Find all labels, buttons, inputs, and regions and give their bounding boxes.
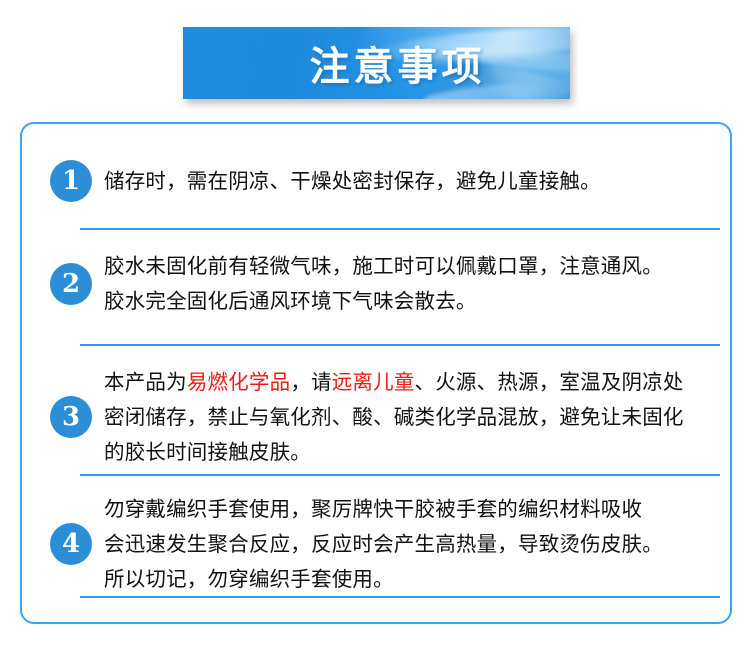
item-text: 本产品为易燃化学品，请远离儿童、火源、热源，室温及阴凉处 密闭储存，禁止与氧化剂…: [104, 365, 730, 470]
page-title: 注意事项: [183, 27, 570, 99]
highlight-text-segment: 远离儿童: [332, 370, 415, 394]
text-segment: 勿穿戴编织手套使用，聚厉牌快干胶被手套的编织材料吸收: [104, 497, 642, 521]
item-line: 所以切记，勿穿编织手套使用。: [104, 562, 716, 597]
text-segment: 密闭储存，禁止与氧化剂、酸、碱类化学品混放，避免让未固化: [104, 405, 684, 429]
banner-background: 注意事项: [183, 27, 570, 99]
item-number-badge: 1: [50, 160, 92, 202]
item-number-badge: 4: [50, 523, 92, 565]
text-segment: 储存时，需在阴凉、干燥处密封保存，避免儿童接触。: [104, 169, 601, 193]
list-item: 3 本产品为易燃化学品，请远离儿童、火源、热源，室温及阴凉处 密闭储存，禁止与氧…: [22, 352, 730, 482]
item-number-badge: 2: [50, 263, 92, 305]
list-divider: [80, 596, 720, 598]
list-item: 2 胶水未固化前有轻微气味，施工时可以佩戴口罩，注意通风。 胶水完全固化后通风环…: [22, 236, 730, 332]
item-line: 勿穿戴编织手套使用，聚厉牌快干胶被手套的编织材料吸收: [104, 492, 716, 527]
text-segment: 本产品为: [104, 370, 187, 394]
text-segment: ，请: [290, 370, 331, 394]
item-text: 勿穿戴编织手套使用，聚厉牌快干胶被手套的编织材料吸收 会迅速发生聚合反应，反应时…: [104, 492, 730, 597]
notice-list: 1 储存时，需在阴凉、干燥处密封保存，避免儿童接触。 2 胶水未固化前有轻微气味…: [22, 124, 730, 622]
item-line: 储存时，需在阴凉、干燥处密封保存，避免儿童接触。: [104, 164, 716, 199]
item-line: 的胶长时间接触皮肤。: [104, 435, 716, 470]
text-segment: 会迅速发生聚合反应，反应时会产生高热量，导致烫伤皮肤。: [104, 532, 663, 556]
item-line: 会迅速发生聚合反应，反应时会产生高热量，导致烫伤皮肤。: [104, 527, 716, 562]
item-line: 胶水完全固化后通风环境下气味会散去。: [104, 284, 716, 319]
notice-page: 注意事项 1 储存时，需在阴凉、干燥处密封保存，避免儿童接触。 2 胶水未固化前…: [0, 0, 750, 645]
item-line: 本产品为易燃化学品，请远离儿童、火源、热源，室温及阴凉处: [104, 365, 716, 400]
list-divider: [80, 228, 720, 230]
text-segment: 所以切记，勿穿编织手套使用。: [104, 567, 394, 591]
text-segment: 胶水未固化前有轻微气味，施工时可以佩戴口罩，注意通风。: [104, 254, 663, 278]
item-text: 胶水未固化前有轻微气味，施工时可以佩戴口罩，注意通风。 胶水完全固化后通风环境下…: [104, 249, 730, 319]
list-divider: [80, 344, 720, 346]
item-line: 胶水未固化前有轻微气味，施工时可以佩戴口罩，注意通风。: [104, 249, 716, 284]
list-divider: [80, 474, 720, 476]
item-number-badge: 3: [50, 396, 92, 438]
item-text: 储存时，需在阴凉、干燥处密封保存，避免儿童接触。: [104, 164, 730, 199]
text-segment: 、火源、热源，室温及阴凉处: [415, 370, 684, 394]
highlight-text-segment: 易燃化学品: [187, 370, 291, 394]
list-item: 1 储存时，需在阴凉、干燥处密封保存，避免儿童接触。: [22, 144, 730, 218]
item-line: 密闭储存，禁止与氧化剂、酸、碱类化学品混放，避免让未固化: [104, 400, 716, 435]
text-segment: 胶水完全固化后通风环境下气味会散去。: [104, 289, 477, 313]
list-item: 4 勿穿戴编织手套使用，聚厉牌快干胶被手套的编织材料吸收 会迅速发生聚合反应，反…: [22, 482, 730, 606]
text-segment: 的胶长时间接触皮肤。: [104, 440, 311, 464]
notice-card: 1 储存时，需在阴凉、干燥处密封保存，避免儿童接触。 2 胶水未固化前有轻微气味…: [20, 122, 732, 624]
header-banner: 注意事项: [183, 27, 570, 99]
